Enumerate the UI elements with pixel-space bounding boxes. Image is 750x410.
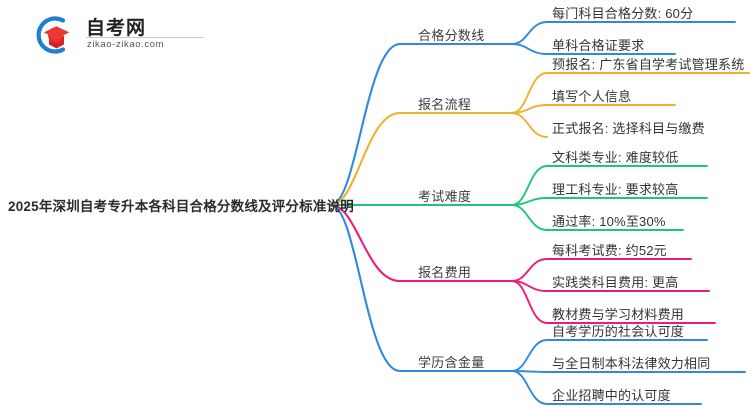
leaf-2-0[interactable]: 文科类专业: 难度较低	[552, 147, 678, 166]
leaf-3-1[interactable]: 实践类科目费用: 更高	[552, 272, 678, 291]
branch-label-1[interactable]: 报名流程	[418, 94, 471, 113]
leaf-4-0[interactable]: 自考学历的社会认可度	[552, 321, 684, 340]
branch-label-3[interactable]: 报名费用	[418, 262, 471, 281]
mindmap-canvas: 自考网 zikao-zikao.com 2025年深圳自考专升本各科目合格分数线…	[0, 0, 750, 410]
logo-url: zikao-zikao.com	[87, 39, 164, 50]
leaf-2-1[interactable]: 理工科专业: 要求较高	[552, 179, 678, 198]
leaf-0-1[interactable]: 单科合格证要求	[552, 35, 644, 54]
leaf-3-0[interactable]: 每科考试费: 约52元	[552, 240, 667, 259]
leaf-4-2[interactable]: 企业招聘中的认可度	[552, 385, 671, 404]
logo-name-cn: 自考网	[86, 13, 146, 40]
logo-mark-icon	[30, 14, 76, 56]
leaf-1-0[interactable]: 预报名: 广东省自学考试管理系统	[552, 54, 744, 73]
site-logo: 自考网 zikao-zikao.com	[30, 12, 210, 58]
branch-label-2[interactable]: 考试难度	[418, 186, 471, 205]
branch-label-4[interactable]: 学历含金量	[418, 352, 485, 371]
leaf-1-2[interactable]: 正式报名: 选择科目与缴费	[552, 118, 705, 137]
logo-wordmark: 自考网 zikao-zikao.com	[86, 12, 206, 56]
leaf-1-1[interactable]: 填写个人信息	[552, 86, 631, 105]
leaf-4-1[interactable]: 与全日制本科法律效力相同	[552, 353, 710, 372]
leaf-0-0[interactable]: 每门科目合格分数: 60分	[552, 3, 693, 22]
root-node-title: 2025年深圳自考专升本各科目合格分数线及评分标准说明	[8, 195, 328, 215]
leaf-2-2[interactable]: 通过率: 10%至30%	[552, 211, 666, 230]
branch-label-0[interactable]: 合格分数线	[418, 25, 485, 44]
logo-divider	[86, 37, 204, 38]
